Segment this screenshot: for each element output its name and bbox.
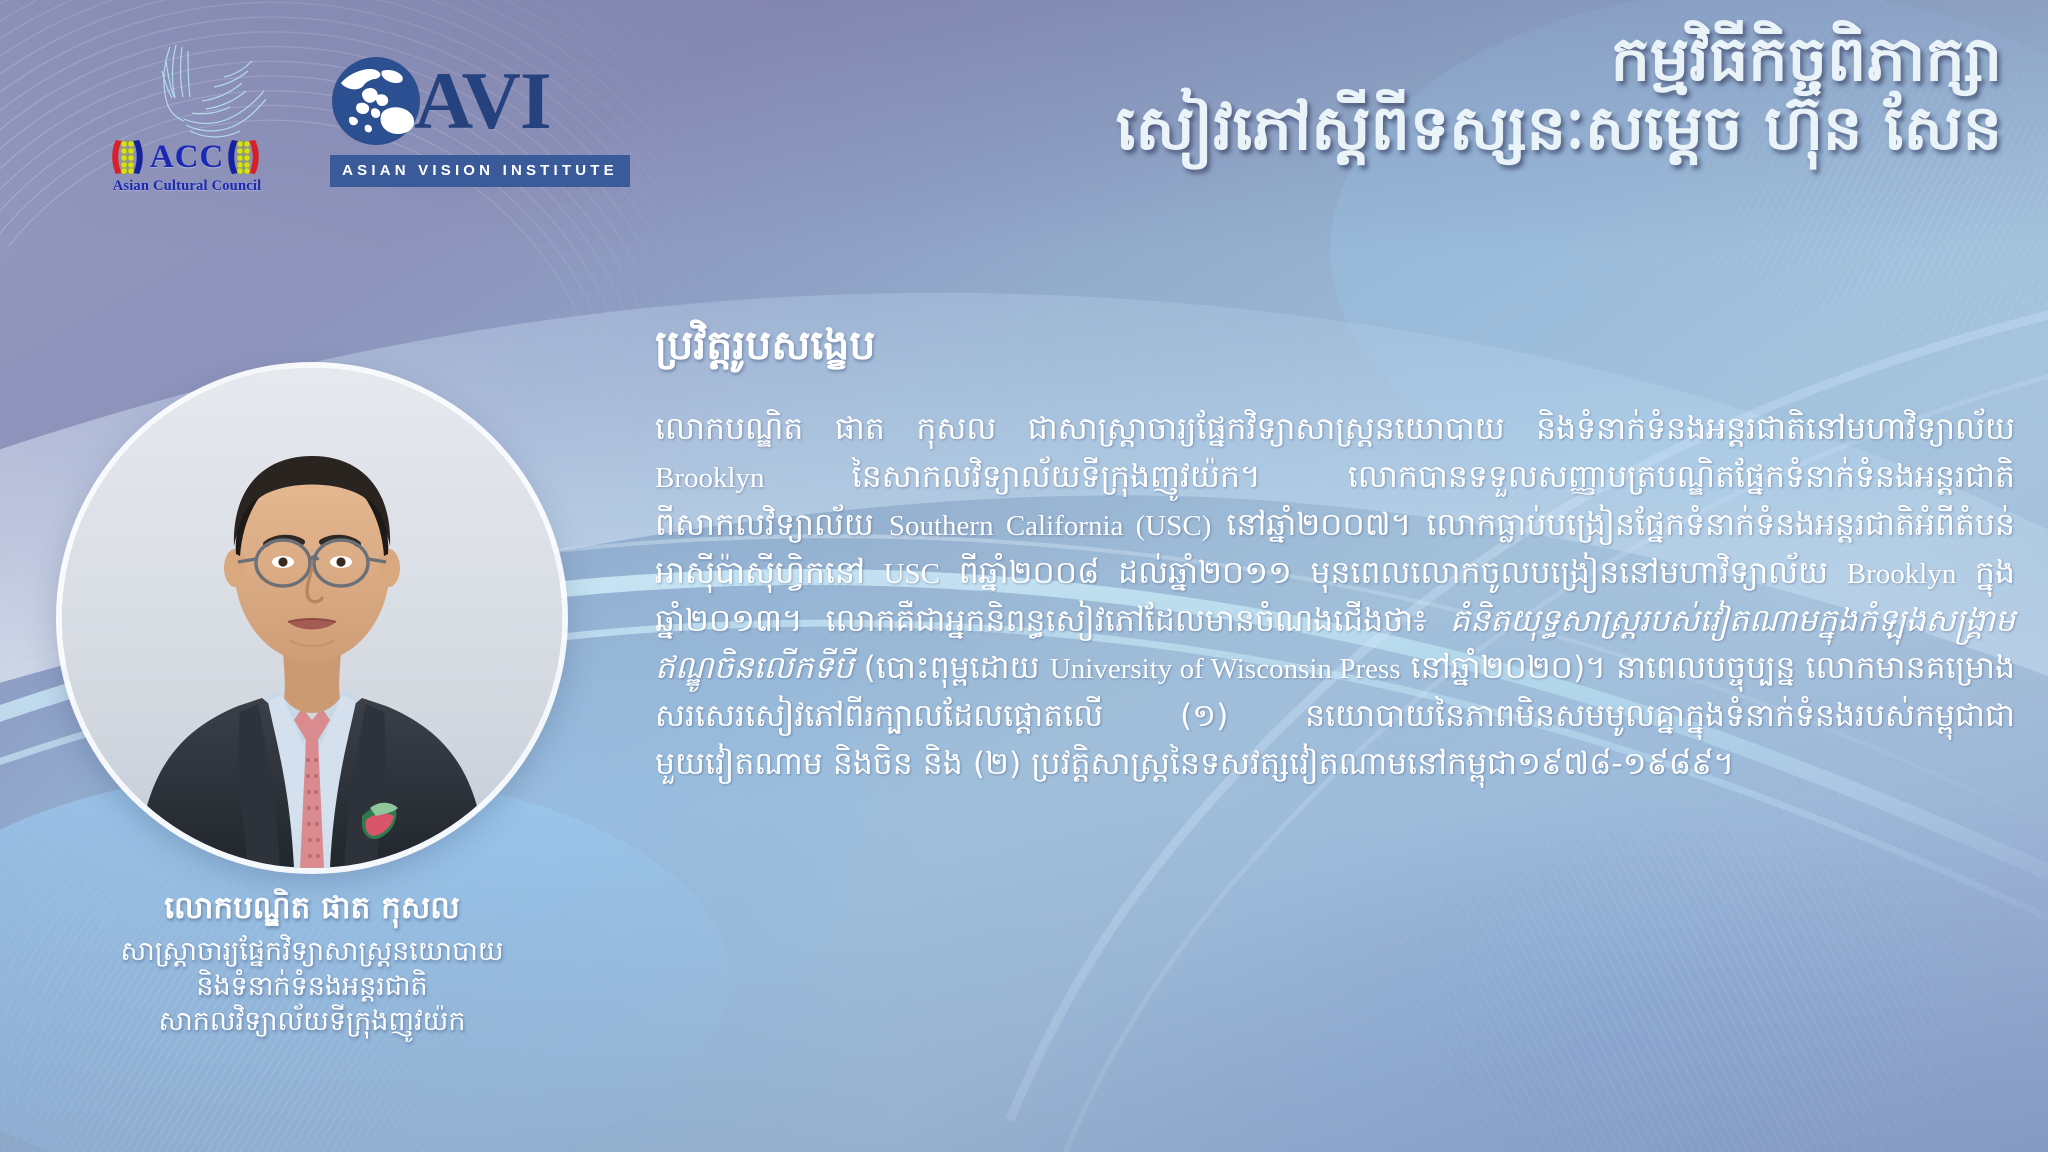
biography-column: ប្រវិត្តរូបសង្ខេប លោកបណ្ឌិត ផាត កុសល ជាស… bbox=[655, 320, 2015, 789]
paragraph-segment-latin-3: Southern California (USC) bbox=[889, 510, 1211, 542]
caption-speaker-name: លោកបណ្ឌិត ផាត កុសល bbox=[62, 888, 562, 930]
paragraph-segment-khmer-6: ពីឆ្នាំ២០០៨ ដល់ឆ្នាំ២០១១ មុនពេលលោកចូលបង្… bbox=[940, 555, 1847, 591]
paragraph-segment-latin-5: USC bbox=[884, 558, 940, 590]
paragraph-segment-khmer-0: លោកបណ្ឌិត ផាត កុសល ជាសាស្ត្រាចារ្យផ្នែកវ… bbox=[655, 411, 2015, 447]
acc-wordmark-row: ACC bbox=[112, 137, 263, 177]
avatar bbox=[62, 368, 562, 868]
paragraph-segment-khmer-10: (បោះពុម្ពដោយ bbox=[853, 650, 1049, 686]
speaker-photo bbox=[62, 368, 562, 868]
bead-stack-left-icon bbox=[112, 137, 146, 177]
avi-top-row: AVI bbox=[330, 45, 630, 157]
acc-acronym: ACC bbox=[150, 141, 225, 174]
presentation-slide: ACC Asian Cultural Council bbox=[0, 0, 2048, 1152]
title-line-1: កម្មវិធីកិច្ចពិភាក្សា bbox=[752, 26, 2002, 93]
dove-icon bbox=[106, 41, 276, 149]
acc-logo: ACC Asian Cultural Council bbox=[92, 45, 282, 195]
caption-role-line-3: សាកលវិទ្យាល័យទីក្រុងញូវយ៉ក bbox=[62, 1004, 562, 1039]
slide-title: កម្មវិធីកិច្ចពិភាក្សា សៀវភៅស្ដីពីទស្សនៈស… bbox=[752, 26, 2002, 162]
globe-icon bbox=[330, 55, 422, 147]
paragraph-segment-latin-7: Brooklyn bbox=[1847, 558, 1957, 590]
paragraph-segment-latin-11: University of Wisconsin Press bbox=[1050, 653, 1401, 685]
bead-stack-right-icon bbox=[228, 137, 262, 177]
avi-acronym: AVI bbox=[414, 64, 551, 138]
caption-role-line-2: និងទំនាក់ទំនងអន្តរជាតិ bbox=[62, 969, 562, 1004]
caption-role-line-1: សាស្ត្រាចារ្យផ្នែកវិទ្យាសាស្ត្រនយោបាយ bbox=[62, 934, 562, 969]
biography-paragraph: លោកបណ្ឌិត ផាត កុសល ជាសាស្ត្រាចារ្យផ្នែកវ… bbox=[655, 406, 2015, 789]
biography-heading: ប្រវិត្តរូបសង្ខេប bbox=[655, 320, 2015, 380]
avi-logo: AVI ASIAN VISION INSTITUTE bbox=[330, 45, 630, 195]
speaker-portrait-block: លោកបណ្ឌិត ផាត កុសល សាស្ត្រាចារ្យផ្នែកវិទ… bbox=[62, 368, 562, 1039]
paragraph-segment-latin-1: Brooklyn bbox=[655, 462, 765, 494]
logo-bar: ACC Asian Cultural Council bbox=[0, 0, 720, 200]
avi-banner-text: ASIAN VISION INSTITUTE bbox=[330, 155, 630, 187]
portrait-caption: លោកបណ្ឌិត ផាត កុសល សាស្ត្រាចារ្យផ្នែកវិទ… bbox=[62, 888, 562, 1039]
title-line-2: សៀវភៅស្ដីពីទស្សនៈសម្ដេច ហ៊ុន សែន bbox=[752, 95, 2002, 162]
acc-subtitle: Asian Cultural Council bbox=[113, 178, 262, 195]
